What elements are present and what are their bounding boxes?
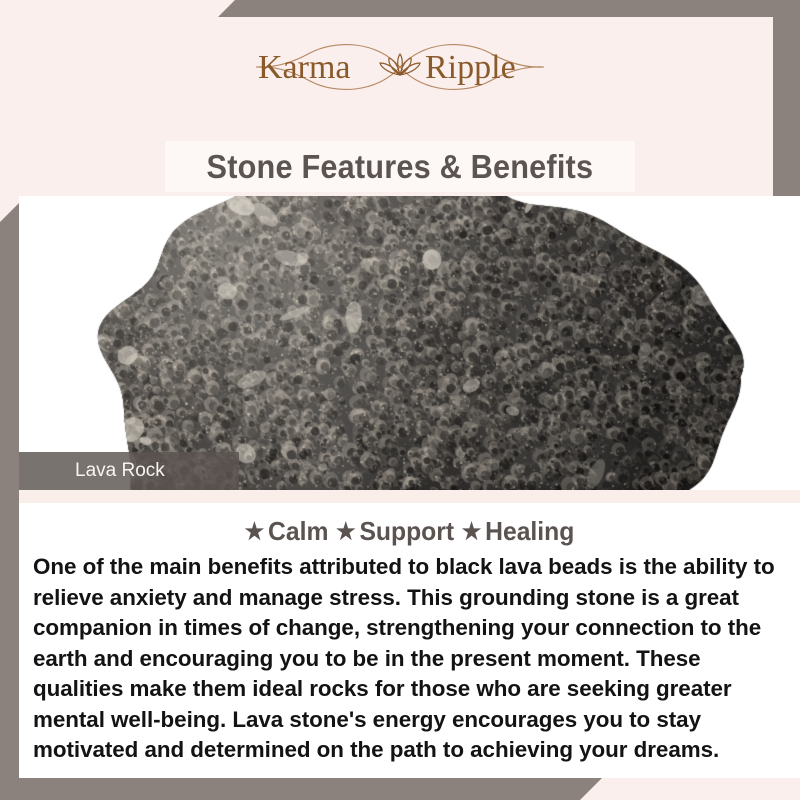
star-icon: ★ [245, 518, 265, 544]
brand-word-right: Ripple [425, 49, 516, 86]
photo-caption-band: Lava Rock [19, 452, 239, 490]
frame-band-top [218, 0, 800, 17]
brand-word-left: Karma [258, 49, 351, 86]
lava-rock-image [19, 196, 800, 490]
keyword-healing: ★Healing [462, 516, 575, 547]
frame-band-bottom [0, 778, 602, 800]
keyword-label: Calm [268, 516, 328, 546]
page-title: Stone Features & Benefits [207, 148, 594, 186]
star-icon: ★ [462, 518, 482, 544]
brand-logo: Karma Ripple [0, 34, 800, 100]
keyword-label: Healing [485, 516, 574, 546]
star-icon: ★ [336, 518, 356, 544]
keyword-support: ★Support [336, 516, 454, 547]
frame-band-left [0, 203, 19, 781]
lotus-icon [380, 54, 420, 75]
body-paragraph: One of the main benefits attributed to b… [33, 552, 792, 766]
keyword-calm: ★Calm [245, 516, 329, 547]
divider-strip [19, 490, 800, 503]
brand-logo-svg: Karma Ripple [250, 36, 550, 98]
heading-band: Stone Features & Benefits [165, 141, 635, 192]
photo-caption-label: Lava Rock [19, 460, 165, 482]
infographic-card: Karma Ripple Stone Features & Benefits L… [0, 0, 800, 800]
lava-rock-photo [19, 196, 800, 490]
keyword-label: Support [359, 516, 454, 546]
keyword-row: ★Calm★Support★Healing [39, 516, 781, 547]
content-panel: ★Calm★Support★Healing One of the main be… [19, 503, 800, 778]
